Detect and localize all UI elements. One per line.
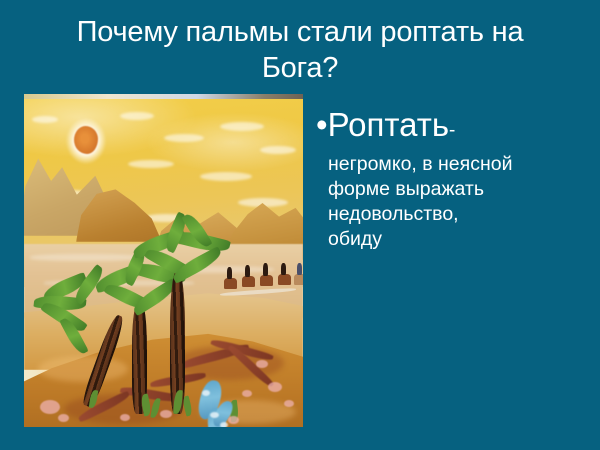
sun-icon: [74, 126, 98, 154]
caravan-figure: [227, 267, 232, 279]
pebble: [40, 400, 60, 414]
lead-dash: -: [449, 120, 455, 141]
pebble: [284, 400, 294, 407]
bullet-lead-line: •Роптать-: [316, 106, 586, 150]
caravan-figure: [245, 265, 250, 277]
camel: [242, 276, 255, 287]
scan-edge-strip: [24, 94, 303, 99]
cloud-shape: [120, 112, 154, 120]
pebble: [256, 360, 268, 368]
dune-highlight: [38, 356, 128, 382]
pebble: [242, 390, 252, 397]
caravan-figure: [281, 263, 286, 275]
cloud-shape: [220, 122, 264, 131]
slide-canvas: Почему пальмы стали роптать на Бога?: [0, 0, 600, 450]
page-title: Почему пальмы стали роптать на Бога?: [18, 14, 582, 86]
illustration-frame: [24, 94, 303, 427]
pebble: [120, 414, 130, 421]
desert-oasis-painting: [24, 94, 303, 427]
cloud-shape: [200, 172, 252, 181]
camel: [260, 275, 273, 286]
caravan-figure: [263, 263, 268, 276]
water-foam: [210, 412, 219, 418]
pebble: [160, 410, 172, 418]
cloud-shape: [164, 134, 204, 142]
sand-streak: [30, 254, 140, 261]
cloud-shape: [128, 160, 174, 168]
pebble: [228, 416, 239, 424]
cloud-shape: [32, 116, 58, 123]
lead-term: Роптать: [328, 106, 449, 143]
cloud-shape: [260, 146, 296, 154]
water-foam: [202, 390, 210, 396]
pebble: [58, 414, 69, 422]
caravan-figure: [297, 263, 302, 275]
content-text-block: •Роптать- негромко, в неясной форме выра…: [316, 106, 586, 252]
bullet-glyph: •: [316, 106, 328, 143]
water-foam: [220, 422, 228, 427]
camel: [224, 278, 237, 289]
definition-text: негромко, в неясной форме выражать недов…: [316, 152, 586, 252]
camel: [278, 274, 291, 285]
camel: [294, 274, 303, 285]
pebble: [268, 382, 282, 392]
